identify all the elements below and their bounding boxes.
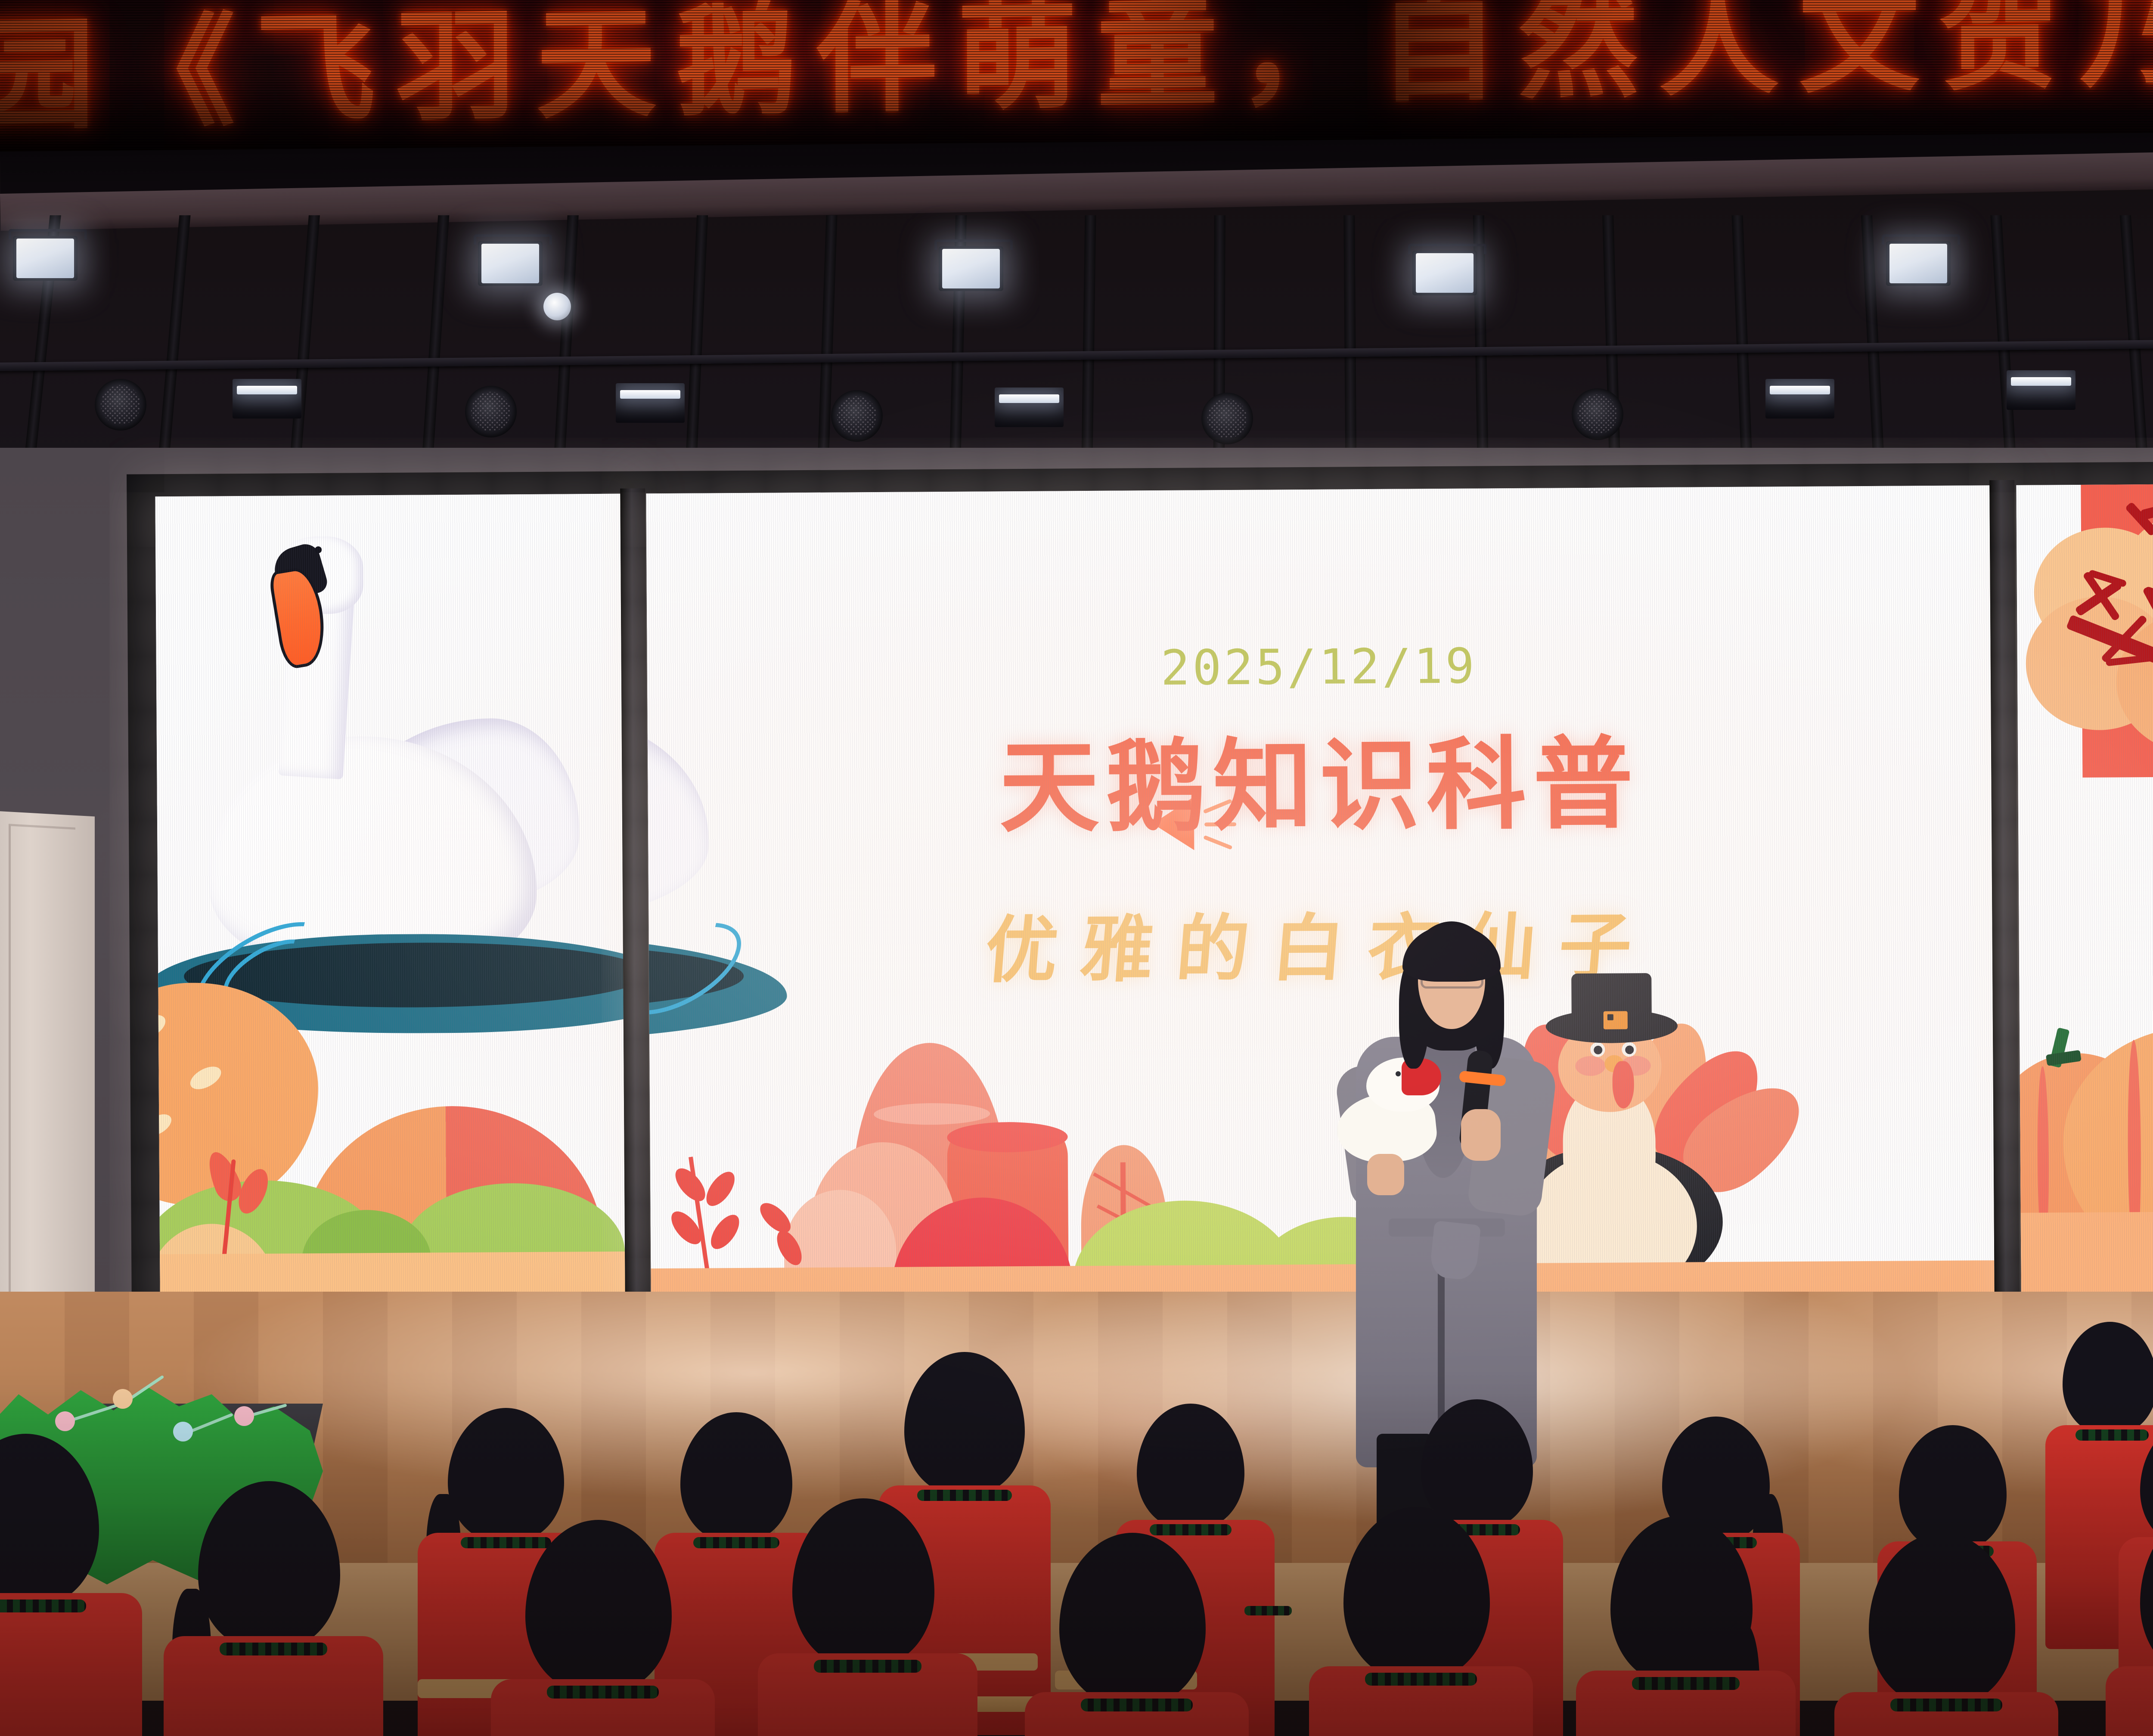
slide-subtitle: 优雅的白衣仙子 [646,886,1994,998]
auditorium-scene: 园《飞羽天鹅伴萌童，自然人文贺乃年》 [0,0,2153,1736]
led-panel-seam [620,488,650,1311]
strip-light [616,383,685,423]
led-panel-right [2016,484,2153,1295]
prop-flower [173,1422,193,1441]
prop-flower [113,1389,133,1409]
wall-side-panel [0,811,95,1346]
fresnel-light [1886,241,1951,286]
banner-vignette [0,0,2153,153]
fresnel-light [478,241,543,286]
fresnel-light [1412,251,1477,295]
slide-title: 天鹅知识科普 [647,701,1992,853]
prop-flower [234,1406,254,1426]
led-panel-center: 2025/12/19 天鹅知识科普 优雅的白衣仙子 [646,485,1994,1303]
strip-light [2007,370,2075,410]
pendant-lamp [543,293,571,320]
led-panel-left [155,494,625,1306]
fresnel-light [939,246,1003,291]
slide-date: 2025/12/19 [647,635,1991,699]
strip-light [995,387,1064,427]
par-can-light [95,379,146,431]
par-can-light [831,390,883,442]
par-can-light [1201,393,1253,444]
led-panel-seam [1989,480,2020,1302]
ceiling-joists [0,215,2153,456]
led-video-wall: 2025/12/19 天鹅知识科普 优雅的白衣仙子 [127,461,2153,1320]
prop-flower [55,1411,75,1431]
ceiling-area: 园《飞羽天鹅伴萌童，自然人文贺乃年》 [0,0,2153,482]
par-can-light [1572,388,1623,440]
fresnel-light [13,236,78,281]
strip-light [1765,379,1834,418]
par-can-light [465,386,517,437]
lighting-truss-bar-upper [0,335,2153,372]
strip-light [233,379,301,418]
led-marquee-banner: 园《飞羽天鹅伴萌童，自然人文贺乃年》 [0,0,2153,153]
